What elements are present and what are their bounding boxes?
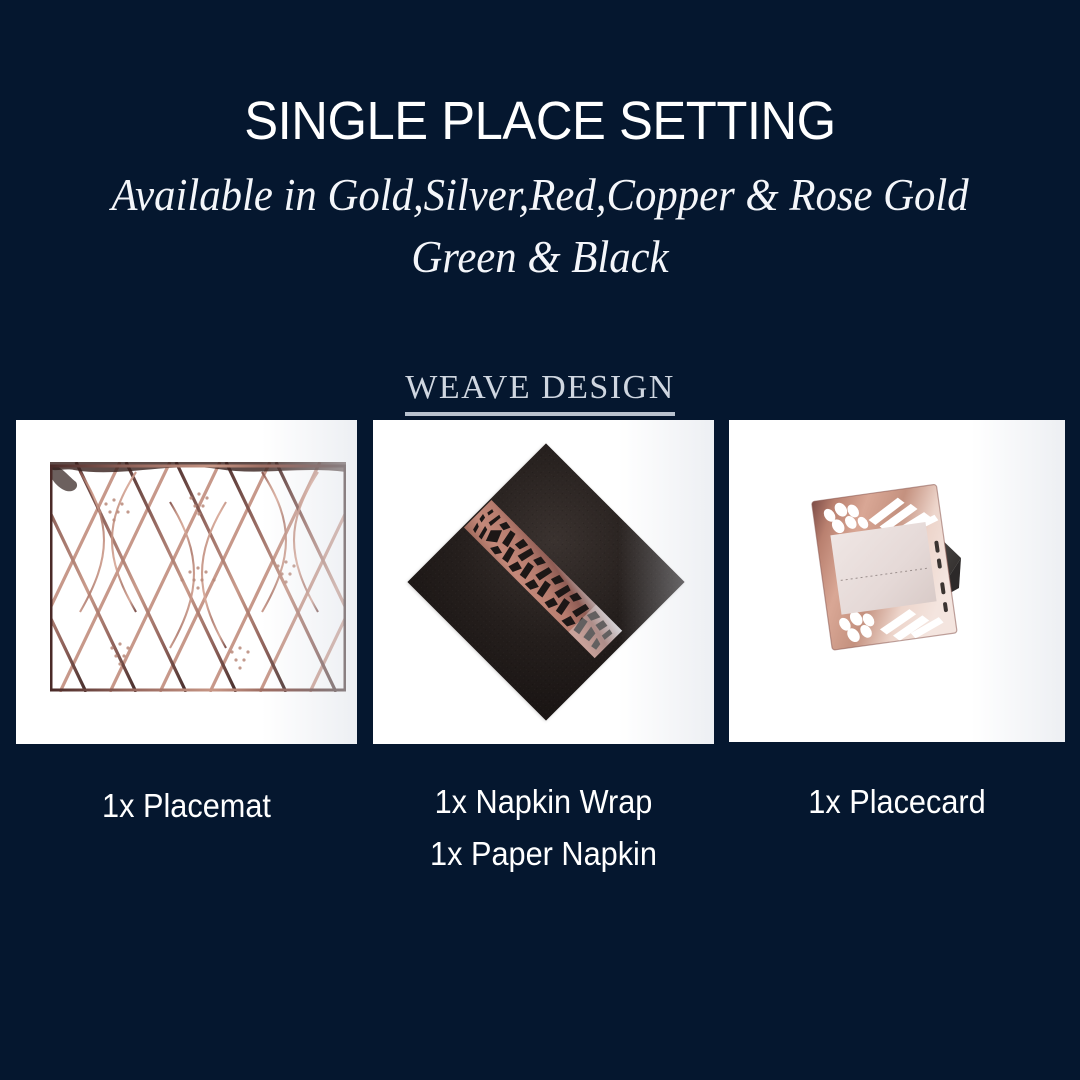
- subtitle-line-1: Available in Gold,Silver,Red,Copper & Ro…: [27, 164, 1053, 226]
- product-panel-placemat[interactable]: [16, 420, 357, 744]
- product-panel-napkin[interactable]: [373, 420, 714, 744]
- product-panel-placecard[interactable]: [729, 420, 1065, 742]
- section-label-weave-design: WEAVE DESIGN: [405, 369, 675, 416]
- caption-placecard: 1x Placecard: [741, 776, 1053, 828]
- caption-napkin: 1x Napkin Wrap 1x Paper Napkin: [385, 776, 702, 880]
- product-photo-napkin: [373, 420, 714, 744]
- placemat-artwork: [50, 462, 346, 692]
- page-title: SINGLE PLACE SETTING: [32, 0, 1047, 150]
- product-photo-placemat: [16, 420, 357, 744]
- subtitle-block: Available in Gold,Silver,Red,Copper & Ro…: [0, 164, 1080, 288]
- placecard-artwork: [791, 468, 1011, 688]
- caption-placemat: 1x Placemat: [28, 780, 345, 832]
- header: SINGLE PLACE SETTING Available in Gold,S…: [0, 0, 1080, 288]
- subtitle-line-2: Green & Black: [27, 226, 1053, 288]
- section-label-container: WEAVE DESIGN: [0, 369, 1080, 416]
- poster-canvas: SINGLE PLACE SETTING Available in Gold,S…: [0, 0, 1080, 1080]
- product-photo-placecard: [729, 420, 1065, 742]
